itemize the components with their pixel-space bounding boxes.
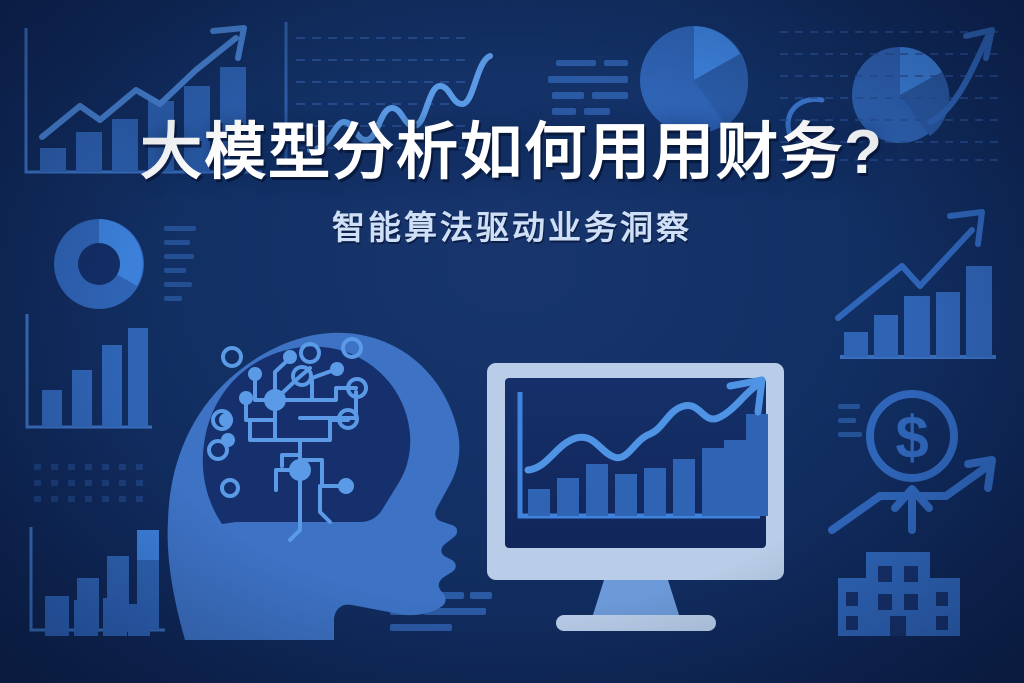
- city-buildings-icon: [838, 552, 960, 636]
- brain-head-icon: [168, 333, 460, 640]
- text-placeholder-block-top: [548, 60, 628, 115]
- poster-canvas: $: [0, 0, 1024, 683]
- dot-grid-pattern: [28, 464, 146, 504]
- background-graphics: $: [0, 0, 1024, 683]
- chart-left-bars-upper: [27, 314, 152, 427]
- page-subtitle: 智能算法驱动业务洞察: [0, 201, 1024, 249]
- text-placeholder-block-right: [838, 404, 862, 437]
- title-block: 大模型分析如何用用财务? 智能算法驱动业务洞察: [0, 120, 1024, 249]
- page-title: 大模型分析如何用用财务?: [0, 120, 1024, 185]
- dollar-coin-icon: $: [870, 394, 954, 478]
- svg-text:$: $: [895, 404, 928, 471]
- monitor-chart-icon: [487, 363, 784, 631]
